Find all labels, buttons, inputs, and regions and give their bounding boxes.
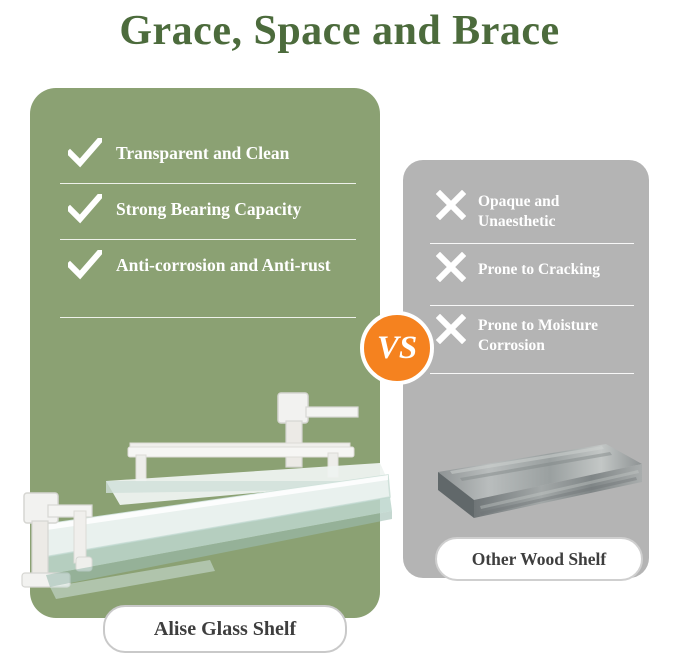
list-item-label: Prone to Cracking: [478, 244, 634, 280]
glass-shelf-feature-list: Transparent and Clean Strong Bearing Cap…: [60, 128, 356, 318]
list-item: Prone to Cracking: [430, 244, 634, 306]
glass-shelf-caption: Alise Glass Shelf: [103, 605, 347, 653]
glass-shelf-illustration: [10, 385, 395, 620]
list-item: Prone to Moisture Corrosion: [430, 306, 634, 374]
list-item-label: Strong Bearing Capacity: [116, 184, 356, 221]
cross-icon: [436, 190, 466, 220]
list-item-label: Opaque and Unaesthetic: [478, 182, 634, 232]
list-item-label: Transparent and Clean: [116, 128, 356, 165]
wood-shelf-caption: Other Wood Shelf: [435, 537, 643, 581]
list-item: Anti-corrosion and Anti-rust: [60, 240, 356, 318]
wood-shelf-illustration: [430, 438, 646, 538]
list-item-label: Prone to Moisture Corrosion: [478, 306, 634, 356]
versus-badge: VS: [360, 311, 434, 385]
divider: [430, 373, 634, 375]
cross-icon: [436, 314, 466, 344]
page-title: Grace, Space and Brace: [0, 4, 679, 58]
check-icon: [68, 138, 102, 168]
list-item: Transparent and Clean: [60, 128, 356, 184]
divider: [60, 317, 356, 319]
versus-label: VS: [377, 332, 417, 365]
list-item: Opaque and Unaesthetic: [430, 182, 634, 244]
check-icon: [68, 194, 102, 224]
list-item-label: Anti-corrosion and Anti-rust: [116, 240, 356, 277]
check-icon: [68, 250, 102, 280]
cross-icon: [436, 252, 466, 282]
list-item: Strong Bearing Capacity: [60, 184, 356, 240]
wood-shelf-drawback-list: Opaque and Unaesthetic Prone to Cracking…: [430, 182, 634, 374]
